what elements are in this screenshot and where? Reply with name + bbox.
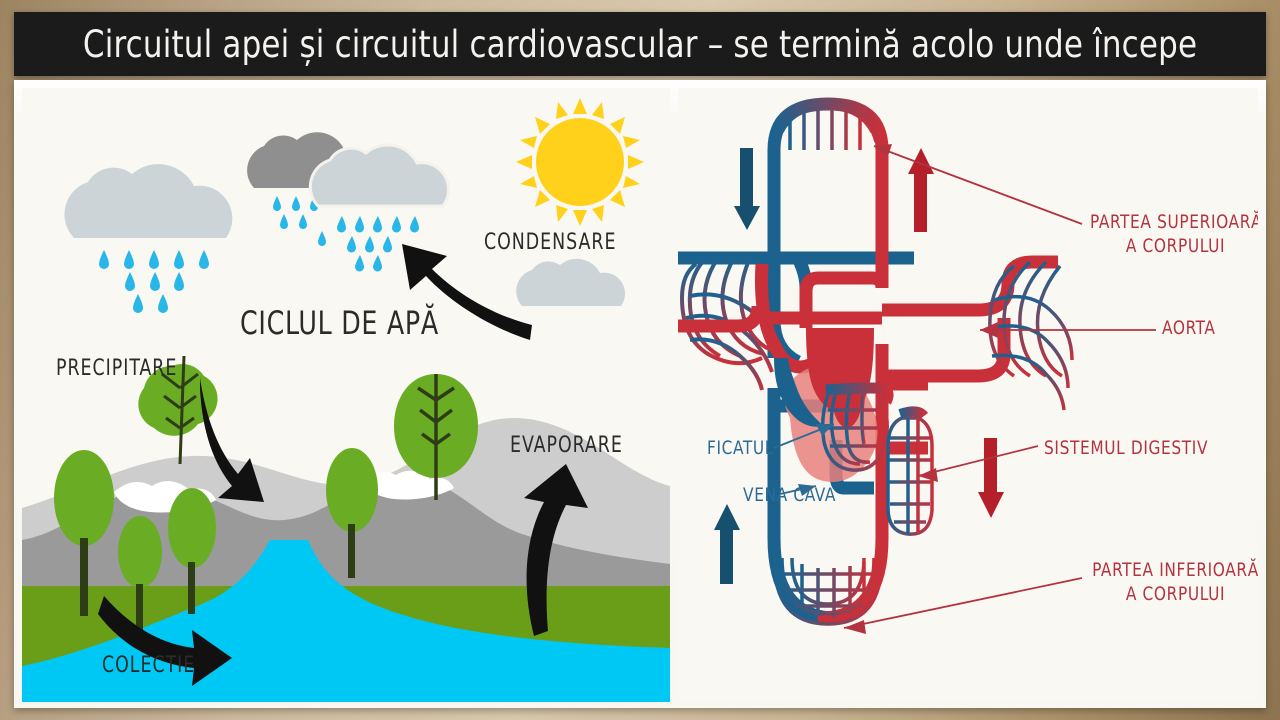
circulatory-illustration	[678, 88, 1258, 702]
page-title: Circuitul apei și circuitul cardiovascul…	[83, 23, 1197, 66]
cloud-right-small	[516, 259, 625, 306]
title-bar: Circuitul apei și circuitul cardiovascul…	[14, 12, 1266, 76]
label-partea-inferioara: PARTEA INFERIOARĂ A CORPULUI	[1090, 558, 1258, 606]
flow-arrow-lower-vein-up	[714, 504, 740, 584]
water-cycle-illustration	[22, 88, 670, 702]
circulatory-panel: PARTEA SUPERIOARĂ A CORPULUI AORTA SISTE…	[678, 88, 1258, 702]
label-partea-superioara: PARTEA SUPERIOARĂ A CORPULUI	[1090, 210, 1258, 258]
sun-icon	[516, 98, 644, 226]
raindrops-left	[99, 250, 209, 313]
label-precipitare: PRECIPITARE	[56, 356, 177, 381]
capillary-bed-lower-body	[774, 558, 882, 624]
capillary-bed-head	[774, 104, 882, 150]
label-line-1: PARTEA SUPERIOARĂ	[1090, 210, 1258, 234]
label-aorta: AORTA	[1162, 316, 1216, 340]
flow-arrow-lower-artery-down	[978, 438, 1004, 518]
label-line-2: A CORPULUI	[1090, 234, 1258, 258]
label-vena-cava: VENA CAVA	[694, 483, 836, 507]
digestive-outline	[900, 411, 924, 416]
content-board: PRECIPITARE CONDENSARE EVAPORARE COLECTI…	[14, 80, 1266, 708]
label-colectie: COLECTIE	[102, 653, 195, 678]
label-ficatul: FICATUL	[688, 436, 774, 460]
water-cycle-heading: CICLUL DE APĂ	[240, 304, 439, 342]
label-line-2: A CORPULUI	[1090, 582, 1258, 606]
label-evaporare: EVAPORARE	[510, 433, 623, 458]
cloud-left	[64, 164, 232, 238]
flow-arrow-upper-vein-down	[734, 148, 760, 230]
label-sistemul-digestiv: SISTEMUL DIGESTIV	[1044, 436, 1208, 460]
label-line-1: PARTEA INFERIOARĂ	[1090, 558, 1258, 582]
water-cycle-panel: PRECIPITARE CONDENSARE EVAPORARE COLECTI…	[22, 88, 670, 702]
label-condensare: CONDENSARE	[484, 230, 616, 255]
